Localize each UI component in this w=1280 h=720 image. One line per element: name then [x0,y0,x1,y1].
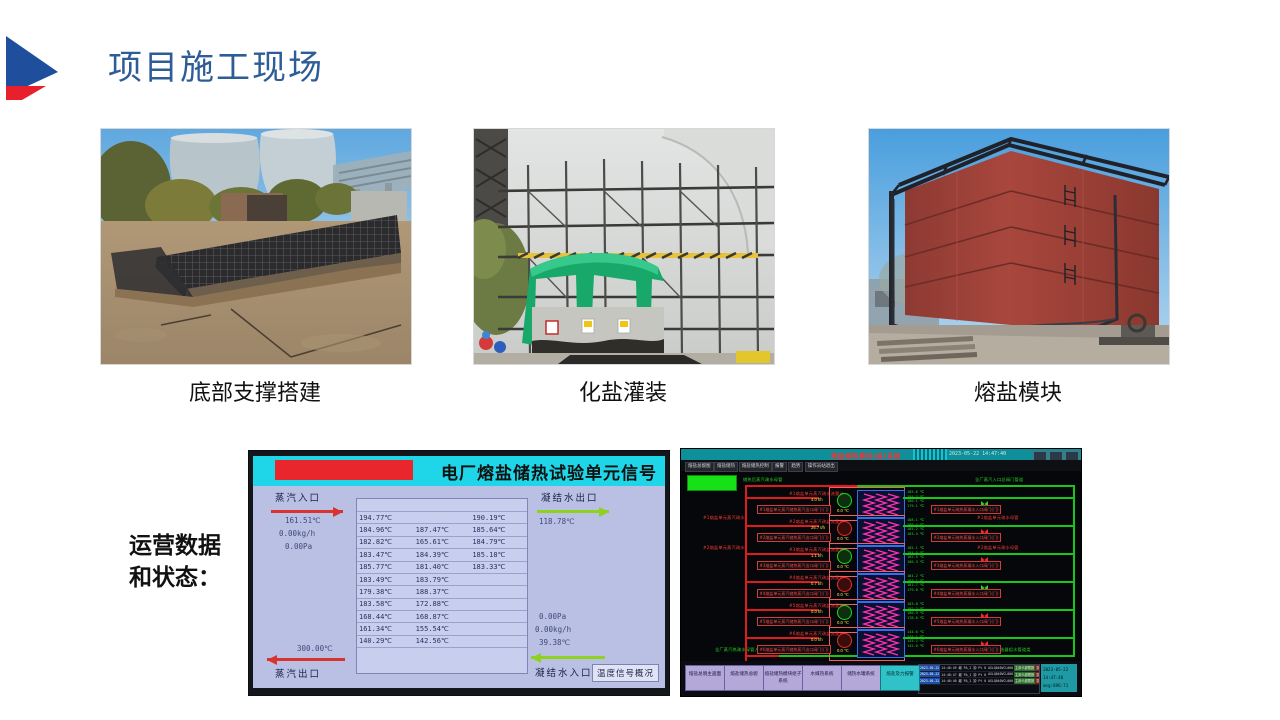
hmi1-title-bar: 电厂熔盐储热试验单元信号 [253,456,665,486]
window-close-button[interactable] [1065,451,1079,461]
hmi2-heat-exchanger[interactable] [857,490,905,518]
hmi1-title: 电厂熔盐储热试验单元信号 [441,459,665,484]
alarm-cell: 主用卡超限报 [1014,678,1035,685]
hmi1-redaction-bar [275,460,413,480]
hmi2-right-red-label-1: #1熔盐单元疏水母管 [977,515,1019,521]
hmi2-outlet-line [903,609,1073,611]
hmi2-footer-button-1[interactable]: 熔盐储热总貌 [724,665,764,691]
hmi2-outlet-line [903,525,1073,527]
hmi2-menu-item-1[interactable]: 熔盐储热 [714,462,738,472]
hmi2-datetime: 2023-05-22 14:47:40 [949,451,1006,457]
hmi2-heat-exchanger[interactable] [857,518,905,546]
hmi2-green-right-bus [1073,485,1075,657]
temperature-cell: 190.19℃ [470,512,527,524]
temperature-cell: 179.38℃ [357,586,414,598]
hmi2-valve-icon[interactable] [981,606,988,612]
operating-data-label: 运营数据 和状态： [100,530,250,594]
hmi2-reading-value: 183.0 ℃ [907,602,924,607]
condensate-inlet-label: 凝结水入口 [535,665,593,679]
hmi2-left-red-label-1: #1熔盐单元蒸汽疏水 [703,515,745,521]
alarm-cell: 主用卡超限报 [1014,671,1035,678]
steam-inlet-temp: 161.51℃ [285,516,321,525]
hmi2-reading-value: 142.0 ℃ [907,644,924,649]
table-row: 194.77℃190.19℃ [357,512,527,524]
temperature-cell: 185.64℃ [470,524,527,536]
hmi2-red-header-line [745,485,747,661]
hmi2-reading-value: 180.3 ℃ [907,560,924,565]
temperature-cell [470,611,527,623]
condensate-outlet-temp: 118.78℃ [539,517,575,526]
photo-foundation [100,128,412,365]
hmi2-clock-msg: msg:896:71 [1043,682,1077,690]
table-row: 161.34℃155.54℃ [357,623,527,635]
alarm-cell: 变化 [1035,678,1040,685]
hmi2-menu-bar: 熔盐总貌图熔盐储热熔盐储热控制报警趋势操作员站退出 [681,460,1081,471]
temperature-cell: 168.44℃ [357,611,414,623]
temperature-cell [414,512,471,524]
temperature-cell: 183.49℃ [357,573,414,585]
alarm-cell: PA_2 钟 Pt 0 [963,665,987,671]
hmi2-outlet-tag[interactable]: #5熔盐单元疏热蒸凝水入口阀门(门) [931,617,1001,626]
hmi2-clock: 2023-05-22 14:47:40 msg:896:71 [1041,664,1077,692]
temperature-cell [470,586,527,598]
hmi2-menu-item-3[interactable]: 报警 [772,462,787,472]
hmi2-valve-icon[interactable] [981,634,988,640]
table-row: 182.82℃165.61℃184.79℃ [357,536,527,548]
temperature-cell: 142.56℃ [414,635,471,647]
temperature-cell: 172.88℃ [414,598,471,610]
hmi2-branch-line [745,581,819,583]
photo-caption-2: 化盐灌装 [473,375,773,407]
hmi2-outlet-tag[interactable]: #3熔盐单元疏热蒸凝水入口阀门(门) [931,561,1001,570]
temperature-cell: 183.58℃ [357,598,414,610]
table-row: 168.44℃168.87℃ [357,611,527,623]
hmi2-footer-button-5[interactable]: 熔盐及力报警 [880,665,920,691]
window-minimize-button[interactable] [1033,451,1047,461]
hmi2-heat-exchanger[interactable] [857,630,905,658]
steam-inlet-arrow-icon [271,510,343,513]
hmi2-branch-line [745,553,819,555]
hmi2-title-hatch [913,449,947,460]
hmi2-valve-tag[interactable]: #2熔盐单元蒸汽储热蒸汽出口阀门(门) [757,533,831,542]
hmi2-menu-item-0[interactable]: 熔盐总貌图 [685,462,714,472]
steam-inlet-pressure: 0.00Pa [285,542,312,551]
hmi2-footer-button-3[interactable]: 水媒热系统 [802,665,842,691]
condensate-outlet-arrow-icon [537,510,609,513]
hmi2-outlet-line [903,553,1073,555]
hmi2-outlet-line [903,581,1073,583]
hmi2-alarm-rows: 2023-05-2214:46:49 報PA_2 钟 Pt 0ASLQ040VC… [919,665,1040,684]
steam-outlet-temp: 300.00℃ [297,644,333,653]
alarm-cell: 14:46:47 報 [940,671,962,678]
photo-salt-filling [473,128,775,365]
condensate-inlet-temp: 39.38℃ [539,638,570,647]
hmi2-branch-line [745,609,819,611]
hmi2-readings: 183.0 ℃182.2 ℃180.9 ℃178.6 ℃ [907,602,924,620]
temperature-cell: 184.96℃ [357,524,414,536]
temperature-cell [470,635,527,647]
hmi2-menu-item-2[interactable]: 熔盐储热控制 [739,462,772,472]
hmi2-flow-value: 0.0 t/h [811,637,823,642]
hmi2-title: 熔盐储热模块(组)系统 [831,450,901,460]
hmi2-flow-value: 4.0 t/h [811,497,823,502]
hmi2-flow-value: 26.7 t/h [811,525,825,530]
temperature-cell: 140.29℃ [357,635,414,647]
window-maximize-button[interactable] [1049,451,1063,461]
condensate-inlet-arrow-icon [531,656,605,659]
alarm-cell: 2023-05-22 [919,678,940,685]
alarm-row[interactable]: 2023-05-2214:46:47 報PA_1 钟 Pt 0ASLQ040VC… [919,671,1040,678]
hmi-molten-salt-system-screenshot: 熔盐储热模块(组)系统 2023-05-22 14:47:40 熔盐总貌图熔盐储… [680,448,1082,697]
temperature-overview-button[interactable]: 温度信号概况 [592,664,659,682]
hmi2-status-indicator[interactable] [687,475,737,491]
alarm-row[interactable]: 2023-05-2214:46:40 報PA_2 钟 Pt 0ASLQ040VC… [919,678,1040,685]
operating-data-label-line2: 和状态： [100,562,250,594]
photo-caption-3: 熔盐模块 [868,375,1168,407]
hmi2-valve-icon[interactable] [981,550,988,556]
hmi2-valve-tag[interactable]: #1熔盐单元蒸汽储热蒸汽出口阀门(门) [757,505,831,514]
photo-salt-module [868,128,1170,365]
hmi2-reading-value: 179.1 ℃ [907,504,924,509]
condensate-inlet-flow: 0.00kg/h [535,625,571,634]
hmi2-footer: 2023-05-2214:46:49 報PA_2 钟 Pt 0ASLQ040VC… [681,661,1081,696]
temperature-cell: 183.47℃ [357,549,414,561]
hmi2-flow-value: 0.0 t/h [811,609,823,614]
hmi2-branch-line [745,525,819,527]
table-row: 140.29℃142.56℃ [357,635,527,647]
hmi2-readings: 144.6 ℃144.1 ℃143.2 ℃142.0 ℃ [907,630,924,648]
temperature-cell: 165.61℃ [414,536,471,548]
hmi2-reading-value: 185.6 ℃ [907,490,924,495]
hmi2-title-bar: 熔盐储热模块(组)系统 2023-05-22 14:47:40 [681,449,1081,460]
alarm-cell: 变化 [1035,671,1040,678]
table-row: 185.77℃181.40℃183.33℃ [357,561,527,573]
temperature-cell: 181.40℃ [414,561,471,573]
hmi2-valve-icon[interactable] [981,522,988,528]
steam-inlet-flow: 0.00kg/h [279,529,315,538]
steam-inlet-label: 蒸汽入口 [275,490,321,504]
hmi2-heat-exchanger[interactable] [857,546,905,574]
temperature-cell [470,573,527,585]
alarm-cell: 2023-05-22 [919,671,940,678]
temperature-cell: 194.77℃ [357,512,414,524]
temperature-table: 194.77℃190.19℃184.96℃187.47℃185.64℃182.8… [356,498,528,674]
temperature-cell: 161.34℃ [357,623,414,635]
alarm-cell: PA_1 钟 Pt 0 [963,671,987,678]
temperature-cell: 183.33℃ [470,561,527,573]
table-row: 184.96℃187.47℃185.64℃ [357,524,527,536]
table-row: 183.49℃183.79℃ [357,573,527,585]
photo-caption-1: 底部支撑搭建 [100,375,410,407]
hmi2-left-red-label-2: #2熔盐单元蒸汽疏水 [703,545,745,551]
hmi2-green-bottom-line [777,655,1075,657]
hmi2-outlet-tag[interactable]: #6熔盐单元疏热蒸凝水入口阀门(门) [931,645,1001,654]
hmi2-menu-item-4[interactable]: 趋势 [788,462,803,472]
alarm-cell: 14:46:49 報 [940,665,962,671]
hmi2-outlet-tag[interactable]: #2熔盐单元疏热蒸凝水入口阀门(门) [931,533,1001,542]
hmi1-diagram: 蒸汽入口 161.51℃ 0.00kg/h 0.00Pa 凝结水出口 118.7… [253,486,665,688]
hmi2-readings: 185.1 ℃184.0 ℃182.5 ℃180.3 ℃ [907,546,924,564]
temperature-cell: 185.77℃ [357,561,414,573]
operating-data-label-line1: 运营数据 [100,530,250,562]
hmi2-footer-button-2[interactable]: 熔盐储热模块组子系统 [763,665,803,691]
hmi2-flow-value: 1.1 t/h [811,553,823,558]
hmi2-reading-value: 178.6 ℃ [907,616,924,621]
alarm-cell: 14:46:40 報 [940,678,962,685]
hmi-unit-signal-screenshot: 电厂熔盐储热试验单元信号 蒸汽入口 161.51℃ 0.00kg/h 0.00P… [248,450,670,696]
temperature-table-rows: 194.77℃190.19℃184.96℃187.47℃185.64℃182.8… [357,512,527,648]
hmi2-footer-button-4[interactable]: 储热水罐系统 [841,665,881,691]
hmi2-readings: 188.1 ℃186.4 ℃185.2 ℃183.4 ℃ [907,518,924,536]
slide-root: 项目施工现场 [0,0,1280,720]
temperature-cell: 168.87℃ [414,611,471,623]
temperature-cell: 184.39℃ [414,549,471,561]
hmi2-valve-icon[interactable] [981,578,988,584]
alarm-cell: PA_2 钟 Pt 0 [963,678,987,685]
hmi2-outlet-line [903,637,1073,639]
alarm-cell: 主用卡超限报 [1014,665,1035,671]
hmi2-reading-value: 183.4 ℃ [907,532,924,537]
condensate-inlet-pressure: 0.00Pa [539,612,566,621]
temperature-cell: 184.79℃ [470,536,527,548]
temperature-cell: 187.47℃ [414,524,471,536]
temperature-cell: 185.18℃ [470,549,527,561]
steam-outlet-arrow-icon [267,658,345,661]
hmi2-valve-icon[interactable] [981,494,988,500]
alarm-cell: ASLQ040VCL000 [987,671,1014,678]
hmi2-reading-value: 184.2 ℃ [907,574,924,579]
page-title: 项目施工现场 [108,40,324,89]
alarm-cell: ASLQ040VCL000 [987,678,1014,685]
hmi2-valve-tag[interactable]: #5熔盐单元蒸汽储热蒸汽出口阀门(门) [757,617,831,626]
hmi2-reading-value: 179.8 ℃ [907,588,924,593]
hmi2-valve-tag[interactable]: #4熔盐单元蒸汽储热蒸汽出口阀门(门) [757,589,831,598]
hmi2-readings: 184.2 ℃183.1 ℃181.7 ℃179.8 ℃ [907,574,924,592]
hmi2-red-bottom-line [745,655,779,657]
table-row: 183.47℃184.39℃185.18℃ [357,549,527,561]
table-row: 179.38℃188.37℃ [357,586,527,598]
hmi2-process-diagram: 储热后蒸汽疏水母管 #1熔盐单元蒸汽疏水 #2熔盐单元蒸汽疏水 全厂蒸汽入口总阀… [681,471,1081,661]
temperature-cell: 182.82℃ [357,536,414,548]
hmi2-branch-line [745,637,819,639]
table-row: 183.58℃172.88℃ [357,598,527,610]
hmi2-outlet-tag[interactable]: #4熔盐单元疏热蒸凝水入口阀门(门) [931,589,1001,598]
steam-outlet-label: 蒸汽出口 [275,666,321,680]
temperature-table-body: 194.77℃190.19℃184.96℃187.47℃185.64℃182.8… [357,511,527,648]
hmi2-reading-value: 188.1 ℃ [907,518,924,523]
temperature-cell [470,598,527,610]
arrow-logo-icon [2,28,62,100]
hmi2-menu-item-5[interactable]: 操作员站退出 [805,462,838,472]
temperature-cell [470,623,527,635]
hmi2-alarm-table[interactable]: 2023-05-2214:46:49 報PA_2 钟 Pt 0ASLQ040VC… [918,664,1040,694]
hmi2-right-green-label: 全厂蒸汽入口总阀门管道 [975,477,1023,483]
hmi2-heat-exchanger[interactable] [857,574,905,602]
hmi2-reading-value: 185.1 ℃ [907,546,924,551]
hmi2-clock-date: 2023-05-22 [1043,666,1077,674]
hmi2-clock-time: 14:47:40 [1043,674,1077,682]
temperature-cell: 188.37℃ [414,586,471,598]
temperature-cell: 183.79℃ [414,573,471,585]
hmi2-left-green-label: 储热后蒸汽疏水母管 [743,477,783,483]
hmi2-outlet-tag[interactable]: #1熔盐单元疏热蒸凝水入口阀门(门) [931,505,1001,514]
hmi2-branch-line [745,497,819,499]
hmi2-reading-value: 144.6 ℃ [907,630,924,635]
hmi2-valve-tag[interactable]: #3熔盐单元蒸汽储热蒸汽出口阀门(门) [757,561,831,570]
hmi2-readings: 185.6 ℃184.3 ℃180.1 ℃179.1 ℃ [907,490,924,508]
hmi2-outlet-line [903,497,1073,499]
temperature-cell: 155.54℃ [414,623,471,635]
condensate-outlet-label: 凝结水出口 [541,490,599,504]
hmi2-heat-exchanger[interactable] [857,602,905,630]
hmi2-footer-button-0[interactable]: 熔盐总貌主画面 [685,665,725,691]
hmi2-valve-tag[interactable]: #6熔盐单元蒸汽储热蒸汽出口阀门(门) [757,645,831,654]
hmi2-flow-value: 0.7 t/h [811,581,823,586]
